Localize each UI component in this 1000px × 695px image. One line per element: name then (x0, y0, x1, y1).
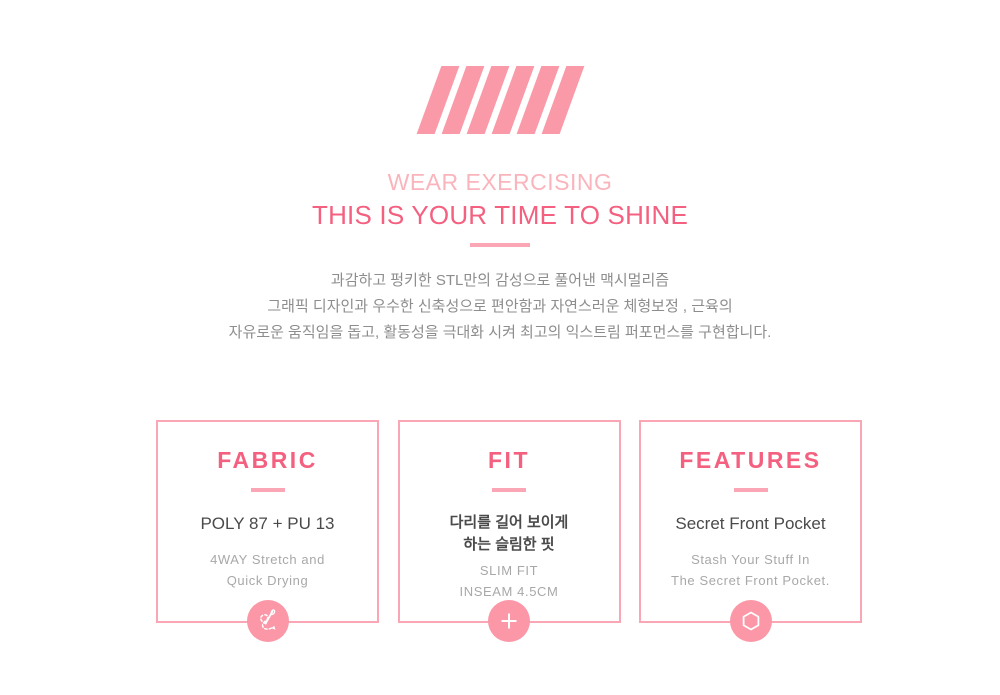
feature-card-fit: FIT 다리를 길어 보이게 하는 슬림한 핏 SLIM FIT INSEAM … (398, 420, 621, 623)
card-title: FABRIC (158, 446, 377, 474)
card-secondary-text: 4WAY Stretch and Quick Drying (158, 549, 377, 591)
product-detail-page: WEAR EXERCISING THIS IS YOUR TIME TO SHI… (0, 0, 1000, 695)
body-copy-line: 자유로운 움직임을 돕고, 활동성을 극대화 시켜 최고의 익스트림 퍼포먼스를… (0, 320, 1000, 346)
card-secondary-line: Quick Drying (158, 570, 377, 591)
card-primary-text: 다리를 길어 보이게 하는 슬림한 핏 (400, 512, 619, 556)
hero-headline: WEAR EXERCISING THIS IS YOUR TIME TO SHI… (0, 166, 1000, 232)
card-divider (734, 488, 768, 492)
card-secondary-line: The Secret Front Pocket. (641, 570, 860, 591)
card-secondary-text: SLIM FIT INSEAM 4.5CM (400, 560, 619, 602)
card-secondary-line: INSEAM 4.5CM (400, 581, 619, 602)
diagonal-stripes-icon (0, 66, 1000, 134)
card-primary-line: POLY 87 + PU 13 (158, 512, 377, 535)
hero-divider (470, 243, 530, 247)
card-secondary-line: SLIM FIT (400, 560, 619, 581)
feature-card-fabric: FABRIC POLY 87 + PU 13 4WAY Stretch and … (156, 420, 379, 623)
card-divider (251, 488, 285, 492)
hexagon-icon (730, 600, 772, 642)
card-title: FIT (400, 446, 619, 474)
body-copy-line: 그래픽 디자인과 우수한 신축성으로 편안함과 자연스러운 체형보정 , 근육의 (0, 294, 1000, 320)
card-secondary-line: Stash Your Stuff In (641, 549, 860, 570)
card-primary-text: Secret Front Pocket (641, 512, 860, 535)
hero-title: THIS IS YOUR TIME TO SHINE (0, 198, 1000, 232)
feature-card-features: FEATURES Secret Front Pocket Stash Your … (639, 420, 862, 623)
card-divider (492, 488, 526, 492)
card-primary-text: POLY 87 + PU 13 (158, 512, 377, 535)
card-primary-line: 다리를 길어 보이게 (400, 512, 619, 534)
body-copy: 과감하고 펑키한 STL만의 감성으로 풀어낸 맥시멀리즘 그래픽 디자인과 우… (0, 268, 1000, 346)
card-secondary-text: Stash Your Stuff In The Secret Front Poc… (641, 549, 860, 591)
plus-icon (488, 600, 530, 642)
needle-and-thread-icon (247, 600, 289, 642)
card-primary-line: Secret Front Pocket (641, 512, 860, 535)
feature-cards: FABRIC POLY 87 + PU 13 4WAY Stretch and … (156, 420, 862, 623)
body-copy-line: 과감하고 펑키한 STL만의 감성으로 풀어낸 맥시멀리즘 (0, 268, 1000, 294)
card-primary-line: 하는 슬림한 핏 (400, 534, 619, 556)
hero-subtitle: WEAR EXERCISING (0, 166, 1000, 198)
card-title: FEATURES (641, 446, 860, 474)
card-secondary-line: 4WAY Stretch and (158, 549, 377, 570)
